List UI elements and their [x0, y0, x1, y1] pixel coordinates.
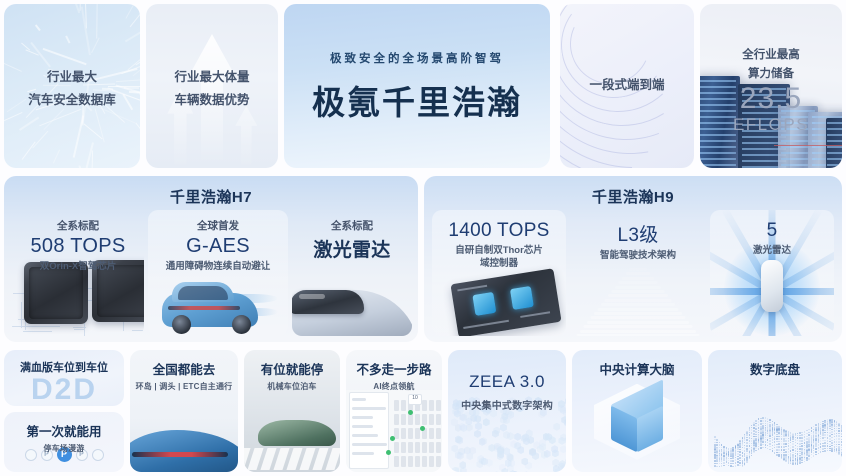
map-ui-screenshot: 10 [346, 390, 442, 472]
hero-kicker: 极致安全的全场景高阶智驾 [284, 50, 550, 66]
item-desc: 通用障碍物连续自动避让 [148, 261, 288, 274]
card-title: ZEEA 3.0 [448, 372, 566, 392]
item-desc: 激光雷达 [710, 245, 834, 258]
compute-unit: EFLOPS [700, 115, 842, 135]
item-desc: 智能驾驶技术架构 [570, 250, 706, 263]
card-auto-park[interactable]: 有位就能停 机械车位泊车 [244, 350, 340, 472]
card-title: 中央计算大脑 [572, 359, 702, 378]
up-arrow-icon [235, 106, 257, 168]
card-end-to-end[interactable]: 一段式端到端 [560, 4, 694, 168]
card-subtitle: 环岛 | 调头 | ETC自主通行 [130, 381, 238, 392]
card-line1: 行业最大 [4, 66, 140, 85]
item-value: G-AES [148, 235, 288, 258]
panel-h7-title: 千里浩瀚H7 [4, 186, 418, 207]
card-compute-reserve[interactable]: 全行业最高 算力储备 23.5 EFLOPS [700, 4, 842, 168]
card-auto-safety-database[interactable]: 行业最大 汽车安全数据库 [4, 4, 140, 168]
card-d2d[interactable]: 满血版车位到车位 D2D [4, 350, 124, 406]
card-title: 不多走一步路 [346, 359, 442, 378]
card-line2: 算力储备 [700, 65, 842, 81]
h9-item-5-lidar[interactable]: 5 激光雷达 [710, 210, 834, 336]
blue-car-icon [130, 430, 238, 472]
card-digital-chassis[interactable]: 数字底盘 [708, 350, 842, 472]
item-desc: 双Orin-X智驾芯片 [12, 261, 144, 274]
d2d-value: D2D [4, 373, 124, 406]
card-line1: 行业最大体量 [146, 66, 278, 85]
hero-title: 极氪千里浩瀚 [284, 76, 550, 124]
car-rear-icon [156, 274, 276, 336]
card-parking-roam[interactable]: 第一次就能用 停车场漫游 PPPPP [4, 412, 124, 472]
h7-item-lidar[interactable]: 全系标配 激光雷达 [292, 210, 412, 336]
item-desc: 自研自制双Thor芯片 域控制器 [432, 245, 566, 271]
card-title: 数字底盘 [708, 359, 842, 378]
lidar-dome-icon [292, 260, 412, 336]
panel-h9-title: 千里浩瀚H9 [424, 186, 842, 207]
card-subtitle: 停车场漫游 [4, 443, 124, 454]
item-value: 5 [710, 220, 834, 242]
poster-board: 行业最大 汽车安全数据库 行业最大体量 车辆数据优势 极致安全的全场景高阶智驾 … [0, 0, 846, 476]
card-title: 第一次就能用 [4, 421, 124, 440]
card-title: 全国都能去 [130, 359, 238, 378]
compute-value: 23.5 [700, 83, 842, 115]
item-kicker: 全球首发 [148, 218, 288, 233]
panel-h9[interactable]: 千里浩瀚H9 1400 TOPS 自研自制双Thor芯片 域控制器 L3级 智能… [424, 176, 842, 342]
item-kicker: 全系标配 [12, 218, 144, 233]
item-value: 激光雷达 [292, 235, 412, 262]
card-endpoint-nav[interactable]: 不多走一步路 AI终点领航 10 [346, 350, 442, 472]
h7-item-gaes[interactable]: 全球首发 G-AES 通用障碍物连续自动避让 [148, 210, 288, 336]
h9-item-l3[interactable]: L3级 智能驾驶技术架构 [570, 210, 706, 336]
h9-item-1400tops[interactable]: 1400 TOPS 自研自制双Thor芯片 域控制器 [432, 210, 566, 336]
green-car-icon [258, 420, 336, 446]
isometric-cube-icon [598, 378, 676, 464]
item-value: 508 TOPS [12, 235, 144, 258]
card-line2: 车辆数据优势 [146, 89, 278, 108]
card-vehicle-data-advantage[interactable]: 行业最大体量 车辆数据优势 [146, 4, 278, 168]
card-line1: 全行业最高 [700, 46, 842, 62]
h7-item-508tops[interactable]: 全系标配 508 TOPS 双Orin-X智驾芯片 [12, 210, 144, 336]
dot-wave-icon [708, 396, 842, 468]
card-line2: 汽车安全数据库 [4, 89, 140, 108]
item-value: L3级 [570, 220, 706, 247]
card-zeea[interactable]: ZEEA 3.0 中央集中式数字架构 [448, 350, 566, 472]
item-kicker: 全系标配 [292, 218, 412, 233]
item-value: 1400 TOPS [432, 220, 566, 242]
card-hero-title[interactable]: 极致安全的全场景高阶智驾 极氪千里浩瀚 [284, 4, 550, 168]
card-subtitle: 机械车位泊车 [244, 381, 340, 392]
card-title: 有位就能停 [244, 359, 340, 378]
card-subtitle: 中央集中式数字架构 [448, 397, 566, 412]
card-nationwide[interactable]: 全国都能去 环岛 | 调头 | ETC自主通行 [130, 350, 238, 472]
card-central-brain[interactable]: 中央计算大脑 [572, 350, 702, 472]
card-line1: 一段式端到端 [560, 74, 694, 93]
card-subtitle: AI终点领航 [346, 381, 442, 392]
ecu-board-icon [450, 268, 561, 336]
lidar-unit-icon [761, 260, 783, 312]
panel-h7[interactable]: 千里浩瀚H7 全系标配 508 TOPS 双Orin-X智驾芯片 全球首发 G-… [4, 176, 418, 342]
